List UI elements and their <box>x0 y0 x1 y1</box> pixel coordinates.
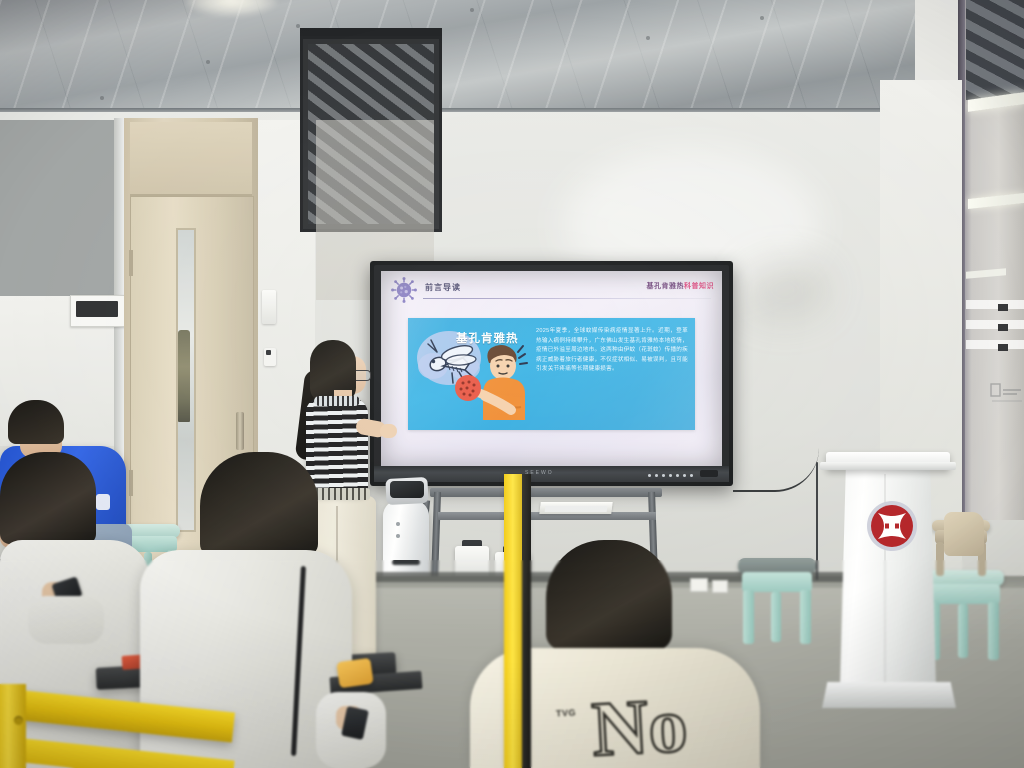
partition-logo-decal <box>990 380 1024 406</box>
display-button[interactable] <box>648 474 651 477</box>
slide-title: 基孔肯雅热 <box>456 330 519 346</box>
display-button[interactable] <box>655 474 658 477</box>
robot-screen[interactable] <box>390 481 424 498</box>
presenter-collar <box>314 396 360 406</box>
display-button[interactable] <box>690 474 693 477</box>
frosted-band <box>966 300 1024 309</box>
lectern-cable <box>816 462 818 580</box>
slide-header-title: 前言导读 <box>425 282 461 293</box>
papers-on-shelf <box>545 506 608 512</box>
slide-content-panel: 基孔肯雅热 2025年夏季，全球蚊媒传染病疫情显著上升。近期，登革热输入病例持续… <box>408 318 695 430</box>
display-ir-receiver <box>700 470 718 477</box>
slide-header: 前言导读 基孔肯雅热科普知识 <box>381 271 722 307</box>
shirt-text-large: No <box>590 686 689 768</box>
door-handle[interactable] <box>236 412 244 450</box>
wall-control-panel-screen <box>76 301 118 317</box>
plastic-stool[interactable] <box>924 570 1004 662</box>
plastic-stool[interactable] <box>738 558 816 644</box>
ceiling-fastener <box>206 60 210 64</box>
student-mid-hair <box>200 452 318 556</box>
slide-topic-part-b: 科普知识 <box>684 283 714 290</box>
left-grey-wall-panel <box>0 120 120 300</box>
door-hinge <box>129 250 133 276</box>
slide-header-topic: 基孔肯雅热科普知识 <box>647 281 715 291</box>
safety-post-shadow-edge <box>522 474 531 768</box>
ceiling-fastener <box>100 96 104 100</box>
display-button[interactable] <box>683 474 686 477</box>
lectern-lip <box>820 462 956 470</box>
lectern-base <box>822 682 956 708</box>
frosted-band-mark <box>998 344 1008 351</box>
yellow-safety-barrier-post <box>0 684 26 768</box>
presenter-striped-top <box>306 398 368 496</box>
robot-sensor <box>396 522 400 526</box>
student-white-arm <box>28 596 104 644</box>
display-screen[interactable]: 前言导读 基孔肯雅热科普知识 <box>381 271 722 467</box>
classroom-scene: 前言导读 基孔肯雅热科普知识 <box>0 0 1024 768</box>
presenter-hand <box>380 424 397 438</box>
wall-socket[interactable] <box>690 578 708 592</box>
ceiling-fastener <box>470 8 474 12</box>
display-button[interactable] <box>662 474 665 477</box>
slide-header-rule <box>423 298 711 299</box>
frosted-band-mark <box>998 324 1008 331</box>
ceiling-fastener <box>646 36 650 40</box>
virus-icon <box>391 277 417 303</box>
shirt-logo <box>96 494 110 510</box>
frosted-band <box>966 340 1024 349</box>
ceiling-foil-sheen <box>0 0 1024 120</box>
display-cart-crossbar <box>430 488 662 497</box>
barrier-bolt <box>14 716 23 725</box>
person-through-door <box>178 330 190 422</box>
presentation-slide: 前言导读 基孔肯雅热科普知识 <box>381 271 722 467</box>
shirt-text-tvg: TVG <box>556 707 577 718</box>
snack-package <box>336 658 373 688</box>
wall-socket[interactable] <box>712 580 728 593</box>
wall-switch-indicator <box>266 350 271 355</box>
student-blue-hair <box>8 400 64 444</box>
slide-topic-part-a: 基孔肯雅热 <box>647 283 685 290</box>
robot-light-bar <box>392 560 420 565</box>
frosted-band <box>966 320 1024 329</box>
cloth-bag <box>944 512 984 556</box>
school-emblem-icon <box>866 500 918 552</box>
student-cream-hair <box>546 540 672 650</box>
wall-mounted-device[interactable] <box>262 290 276 324</box>
student-white-hair <box>0 452 96 544</box>
frosted-band-mark <box>998 304 1008 311</box>
door-transom <box>130 122 252 196</box>
wall-shadow <box>740 260 830 320</box>
ceiling-beams-beyond <box>966 0 1024 100</box>
display-button[interactable] <box>676 474 679 477</box>
display-button[interactable] <box>669 474 672 477</box>
robot-sensor <box>396 534 400 538</box>
door-hinge <box>129 470 133 496</box>
slide-body-text: 2025年夏季，全球蚊媒传染病疫情显著上升。近期，登革热输入病例持续攀升，广东佛… <box>536 327 688 375</box>
ceiling-fastener <box>760 16 764 20</box>
